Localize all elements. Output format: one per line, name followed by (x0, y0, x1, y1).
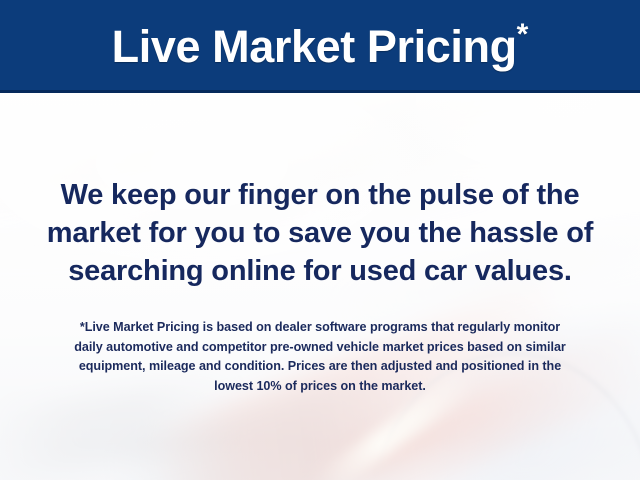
disclaimer-line-2: daily automotive and competitor pre-owne… (24, 338, 616, 358)
disclaimer: *Live Market Pricing is based on dealer … (0, 318, 640, 396)
page-title-asterisk: * (517, 18, 529, 51)
headline: We keep our finger on the pulse of the m… (0, 176, 640, 290)
disclaimer-line-4: lowest 10% of prices on the market. (24, 377, 616, 397)
page-title: Live Market Pricing* (112, 20, 529, 69)
disclaimer-line-3: equipment, mileage and condition. Prices… (24, 357, 616, 377)
live-market-pricing-graphic: Live Market Pricing* We keep our finger … (0, 0, 640, 480)
disclaimer-line-1: *Live Market Pricing is based on dealer … (24, 318, 616, 338)
headline-line-3: searching online for used car values. (18, 252, 622, 290)
headline-line-1: We keep our finger on the pulse of the (18, 176, 622, 214)
headline-line-2: market for you to save you the hassle of (18, 214, 622, 252)
page-title-text: Live Market Pricing (112, 21, 517, 72)
title-banner: Live Market Pricing* (0, 0, 640, 93)
